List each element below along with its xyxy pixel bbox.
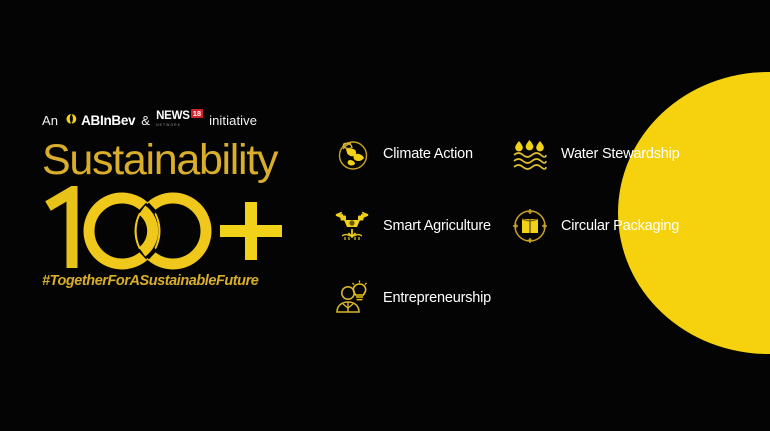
pillar-label: Entrepreneurship [383, 290, 491, 306]
abinbev-logo: ABInBev [64, 113, 135, 128]
globe-leaf-icon [332, 134, 372, 174]
pillar-label: Water Stewardship [561, 146, 680, 162]
abinbev-wordmark: ABInBev [81, 113, 135, 128]
pillar-label: Climate Action [383, 146, 473, 162]
news18-wordmark: NEWS [156, 111, 190, 123]
pillar-entrepreneurship[interactable]: Entrepreneurship [332, 262, 510, 334]
page-title: Sustainability [42, 139, 304, 182]
pillar-label: Smart Agriculture [383, 218, 491, 234]
person-lightbulb-icon [332, 278, 372, 318]
initiative-suffix-text: initiative [209, 113, 257, 128]
drone-icon [332, 206, 372, 246]
news18-number-badge: 18 [191, 109, 203, 118]
news18-network-subtext: NETWORK [156, 124, 181, 127]
news18-wordmark-stack: NEWS NETWORK [156, 111, 190, 127]
pillar-circular-packaging[interactable]: Circular Packaging [510, 190, 700, 262]
abinbev-hop-icon [64, 113, 78, 127]
pillars-grid: Climate Action Water Stewardship [332, 118, 700, 334]
sustainability-100-plus-banner: An ABInBev & NEWS NETWORK 18 initiat [0, 0, 770, 431]
pillar-label: Circular Packaging [561, 218, 679, 234]
pillar-smart-agriculture[interactable]: Smart Agriculture [332, 190, 510, 262]
news18-logo: NEWS NETWORK 18 [156, 111, 203, 127]
initiative-line: An ABInBev & NEWS NETWORK 18 initiat [42, 110, 304, 130]
logo-100-plus [42, 186, 304, 270]
ampersand-text: & [141, 113, 150, 128]
package-recycle-icon [510, 206, 550, 246]
pillar-water-stewardship[interactable]: Water Stewardship [510, 118, 700, 190]
pillar-climate-action[interactable]: Climate Action [332, 118, 510, 190]
tagline-hashtag: #TogetherForASustainableFuture [42, 273, 304, 289]
water-drops-waves-icon [510, 134, 550, 174]
initiative-prefix-text: An [42, 113, 58, 128]
branding-column: An ABInBev & NEWS NETWORK 18 initiat [42, 110, 304, 289]
